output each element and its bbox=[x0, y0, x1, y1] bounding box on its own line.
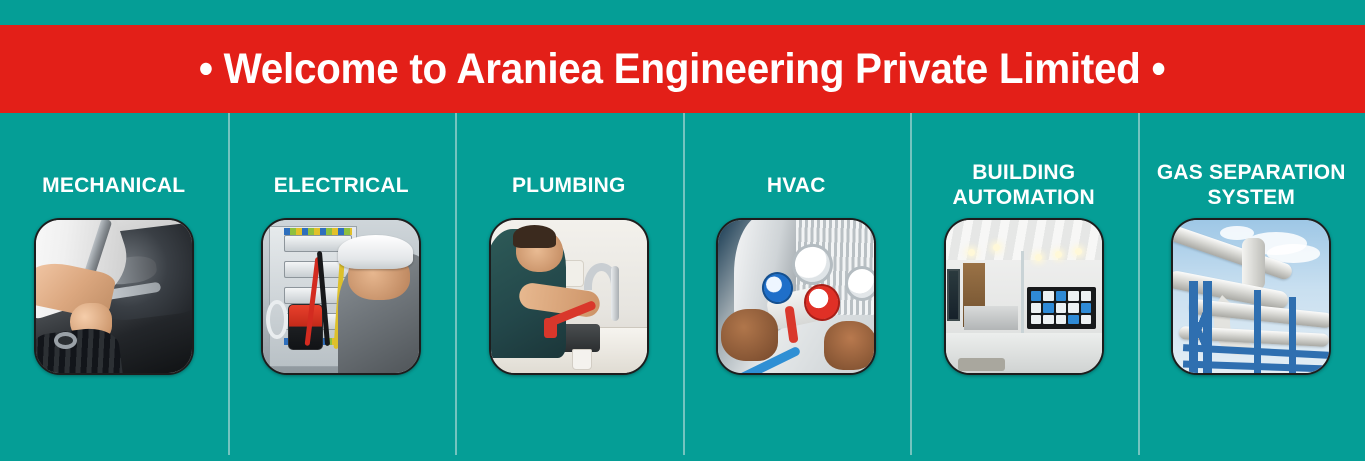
category-card-plumbing[interactable]: PLUMBING bbox=[455, 113, 683, 461]
category-label-hvac: HVAC bbox=[767, 161, 826, 211]
plumber-sink-image bbox=[491, 220, 647, 373]
category-image-plumbing[interactable] bbox=[489, 218, 649, 375]
smart-home-panel-image bbox=[946, 220, 1102, 373]
category-label-plumbing: PLUMBING bbox=[512, 161, 626, 211]
page-title: • Welcome to Araniea Engineering Private… bbox=[199, 48, 1166, 91]
welcome-banner: • Welcome to Araniea Engineering Private… bbox=[0, 25, 1365, 113]
category-label-gas-separation-system: GAS SEPARATION SYSTEM bbox=[1157, 161, 1346, 211]
category-image-gas-separation-system[interactable] bbox=[1171, 218, 1331, 375]
category-card-gas-separation-system[interactable]: GAS SEPARATION SYSTEM bbox=[1138, 113, 1365, 461]
category-card-electrical[interactable]: ELECTRICAL bbox=[228, 113, 456, 461]
category-label-electrical: ELECTRICAL bbox=[274, 161, 409, 211]
electrician-panel-image bbox=[263, 220, 419, 373]
category-card-mechanical[interactable]: MECHANICAL bbox=[0, 113, 228, 461]
mechanic-engine-image bbox=[36, 220, 192, 373]
service-category-strip: MECHANICAL ELECTRICAL bbox=[0, 113, 1365, 461]
welcome-banner-page: • Welcome to Araniea Engineering Private… bbox=[0, 0, 1365, 461]
category-image-electrical[interactable] bbox=[261, 218, 421, 375]
category-image-hvac[interactable] bbox=[716, 218, 876, 375]
hvac-manifold-gauges-image bbox=[718, 220, 874, 373]
category-card-building-automation[interactable]: BUILDING AUTOMATION bbox=[910, 113, 1138, 461]
gas-pipeline-image bbox=[1173, 220, 1329, 373]
category-label-building-automation: BUILDING AUTOMATION bbox=[953, 161, 1095, 211]
top-teal-strip bbox=[0, 0, 1365, 25]
category-label-mechanical: MECHANICAL bbox=[42, 161, 185, 211]
category-image-mechanical[interactable] bbox=[34, 218, 194, 375]
category-card-hvac[interactable]: HVAC bbox=[683, 113, 911, 461]
category-image-building-automation[interactable] bbox=[944, 218, 1104, 375]
